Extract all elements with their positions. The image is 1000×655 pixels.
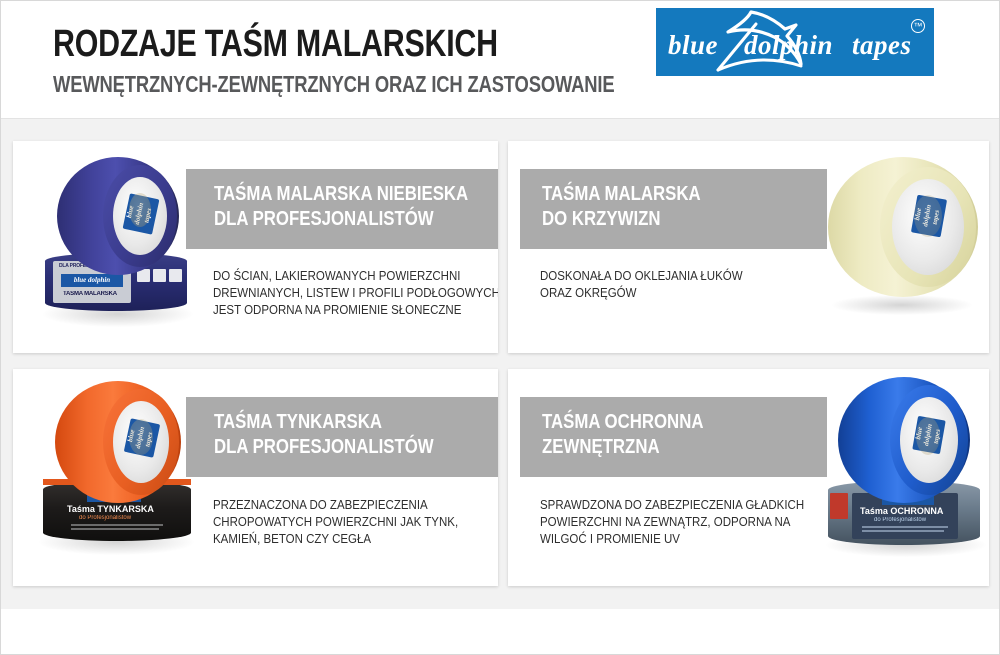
card-body-line3: JEST ODPORNA NA PROMIENIE SŁONECZNE xyxy=(213,303,461,317)
logo-word-tapes: tapes xyxy=(852,30,912,61)
card-body-line3: WILGOĆ I PROMIENIE UV xyxy=(540,532,680,546)
page-title: RODZAJE TAŚM MALARSKICH xyxy=(53,23,615,65)
trademark-icon: ™ xyxy=(911,19,925,33)
card-title-band: TAŚMA MALARSKA DO KRZYWIZN xyxy=(520,169,827,249)
card-title-band: TAŚMA TYNKARSKA DLA PROFESJONALISTÓW xyxy=(186,397,498,477)
standing-roll: bluedolphintapes xyxy=(838,377,970,503)
card-body-line2: ORAZ OKRĘGÓW xyxy=(540,286,636,300)
card-title: TAŚMA OCHRONNA ZEWNĘTRZNA xyxy=(542,410,703,460)
roll-hole xyxy=(129,419,153,455)
product-shadow xyxy=(832,295,972,315)
card-title-band: TAŚMA OCHRONNA ZEWNĘTRZNA xyxy=(520,397,827,477)
product-image-blue-professional: DLA PROFESJONALISTÓW blue dolphin TAŚMA … xyxy=(47,151,187,331)
wrapper-label-line1: Taśma OCHRONNA xyxy=(860,506,956,516)
footer-space xyxy=(1,609,1000,655)
card-blue-professional[interactable]: DLA PROFESJONALISTÓW blue dolphin TAŚMA … xyxy=(13,141,498,353)
card-body: PRZEZNACZONA DO ZABEZPIECZENIA CHROPOWAT… xyxy=(213,497,458,548)
card-title-line1: TAŚMA OCHRONNA xyxy=(542,411,703,433)
standing-roll: bluedolphintapes xyxy=(57,157,179,275)
logo-word-blue: blue xyxy=(668,30,718,61)
wrapper-label-line2: TAŚMA MALARSKA xyxy=(63,291,123,297)
roll-hole xyxy=(916,417,940,455)
card-body-line2: POWIERZCHNI NA ZEWNĄTRZ, ODPORNA NA xyxy=(540,515,790,529)
card-title-line1: TAŚMA MALARSKA xyxy=(542,183,701,205)
card-body-line1: DO ŚCIAN, LAKIEROWANYCH POWIERZCHNI xyxy=(213,269,460,283)
card-body: DO ŚCIAN, LAKIEROWANYCH POWIERZCHNI DREW… xyxy=(213,268,498,319)
card-title-line1: TAŚMA TYNKARSKA xyxy=(214,411,382,433)
infographic-page: RODZAJE TAŚM MALARSKICH WEWNĘTRZNYCH-ZEW… xyxy=(0,0,1000,655)
logo-word-dolphin: dolphin xyxy=(744,30,833,61)
wrapper-label-line1: Taśma TYNKARSKA xyxy=(67,504,167,514)
product-image-cream-curve: bluedolphintapes xyxy=(826,149,981,324)
product-image-blue-outdoor: blue dolphin Taśma OCHRONNA do Profesjon… xyxy=(828,375,988,565)
roll-hole xyxy=(914,195,942,237)
card-body-line2: DREWNIANYCH, LISTEW I PROFILI PODŁOGOWYC… xyxy=(213,286,498,300)
brand-logo: blue dolphin tapes ™ xyxy=(656,8,934,76)
wrapper-label-line2: do Profesjonalistów xyxy=(874,517,954,523)
card-grid: DLA PROFESJONALISTÓW blue dolphin TAŚMA … xyxy=(1,119,1000,609)
wrapper-mini-logo: blue dolphin xyxy=(61,274,123,287)
standing-roll: bluedolphintapes xyxy=(55,381,181,503)
card-title-line2: ZEWNĘTRZNA xyxy=(542,436,660,458)
card-title-band: TAŚMA MALARSKA NIEBIESKA DLA PROFESJONAL… xyxy=(186,169,498,249)
card-plaster-professional[interactable]: blue dolphin Taśma TYNKARSKA do Profesjo… xyxy=(13,369,498,586)
wrapper-label-line2: do Profesjonalistów xyxy=(79,515,165,521)
card-title-line2: DLA PROFESJONALISTÓW xyxy=(214,436,434,458)
card-body-line2: CHROPOWATYCH POWIERZCHNI JAK TYNK, xyxy=(213,515,458,529)
card-title: TAŚMA TYNKARSKA DLA PROFESJONALISTÓW xyxy=(214,410,434,460)
card-body-line1: SPRAWDZONA DO ZABEZPIECZENIA GŁADKICH xyxy=(540,498,804,512)
card-title-line1: TAŚMA MALARSKA NIEBIESKA xyxy=(214,183,468,205)
page-header: RODZAJE TAŚM MALARSKICH WEWNĘTRZNYCH-ZEW… xyxy=(1,1,1000,119)
card-body: SPRAWDZONA DO ZABEZPIECZENIA GŁADKICH PO… xyxy=(540,497,804,548)
standing-roll: bluedolphintapes xyxy=(828,157,978,297)
card-title: TAŚMA MALARSKA NIEBIESKA DLA PROFESJONAL… xyxy=(214,182,468,232)
card-body-line3: KAMIEŃ, BETON CZY CEGŁA xyxy=(213,532,371,546)
card-title-line2: DO KRZYWIZN xyxy=(542,208,661,230)
card-outdoor-protective[interactable]: blue dolphin Taśma OCHRONNA do Profesjon… xyxy=(508,369,989,586)
card-curve-masking[interactable]: bluedolphintapes TAŚMA MALARSKA DO KRZYW… xyxy=(508,141,989,353)
page-subtitle: WEWNĘTRZNYCH-ZEWNĘTRZNYCH ORAZ ICH ZASTO… xyxy=(53,71,615,97)
title-block: RODZAJE TAŚM MALARSKICH WEWNĘTRZNYCH-ZEW… xyxy=(53,23,755,97)
card-body: DOSKONAŁA DO OKLEJANIA ŁUKÓW ORAZ OKRĘGÓ… xyxy=(540,268,743,302)
card-title: TAŚMA MALARSKA DO KRZYWIZN xyxy=(542,182,701,232)
card-title-line2: DLA PROFESJONALISTÓW xyxy=(214,208,434,230)
card-body-line1: DOSKONAŁA DO OKLEJANIA ŁUKÓW xyxy=(540,269,743,283)
product-image-orange-plaster: blue dolphin Taśma TYNKARSKA do Profesjo… xyxy=(43,377,188,562)
roll-hole xyxy=(129,193,151,227)
card-body-line1: PRZEZNACZONA DO ZABEZPIECZENIA xyxy=(213,498,428,512)
